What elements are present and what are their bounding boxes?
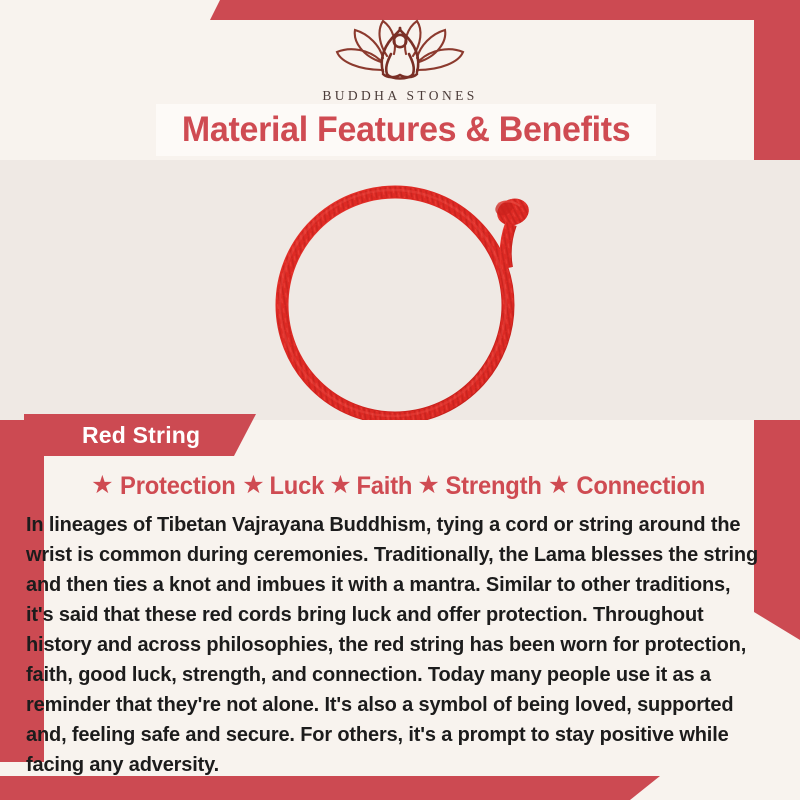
material-description: In lineages of Tibetan Vajrayana Buddhis… (26, 510, 763, 780)
cord-knot (493, 195, 532, 230)
benefits-row: ★ Protection ★ Luck ★ Faith ★ Strength ★… (26, 466, 774, 506)
material-name-ribbon: Red String (24, 414, 256, 456)
product-photo-panel (0, 160, 800, 420)
benefit-item-faith: ★ Faith (329, 472, 413, 501)
infographic-card: BUDDHA STONES Material Features & Benefi… (0, 0, 800, 800)
benefit-label: Connection (577, 472, 706, 501)
benefit-item-protection: ★ Protection (91, 472, 238, 501)
benefit-label: Protection (120, 472, 236, 501)
benefit-label: Strength (445, 472, 541, 501)
star-icon: ★ (242, 473, 264, 498)
benefit-label: Faith (356, 472, 412, 501)
benefit-item-luck: ★ Luck (242, 472, 325, 501)
red-string-bracelet-image (232, 174, 572, 420)
title-banner: Material Features & Benefits (156, 104, 656, 156)
star-icon: ★ (329, 473, 351, 498)
brand-wordmark: BUDDHA STONES (0, 88, 800, 104)
material-name-label: Red String (82, 422, 200, 449)
decorative-top-band (210, 0, 800, 20)
lotus-meditation-icon (325, 18, 475, 84)
star-icon: ★ (91, 473, 113, 498)
benefit-item-strength: ★ Strength (417, 472, 544, 501)
benefit-label: Luck (269, 472, 324, 501)
star-icon: ★ (548, 473, 570, 498)
brand-logo: BUDDHA STONES (0, 18, 800, 104)
page-title: Material Features & Benefits (182, 110, 630, 150)
star-icon: ★ (417, 473, 439, 498)
benefit-item-connection: ★ Connection (548, 472, 709, 501)
